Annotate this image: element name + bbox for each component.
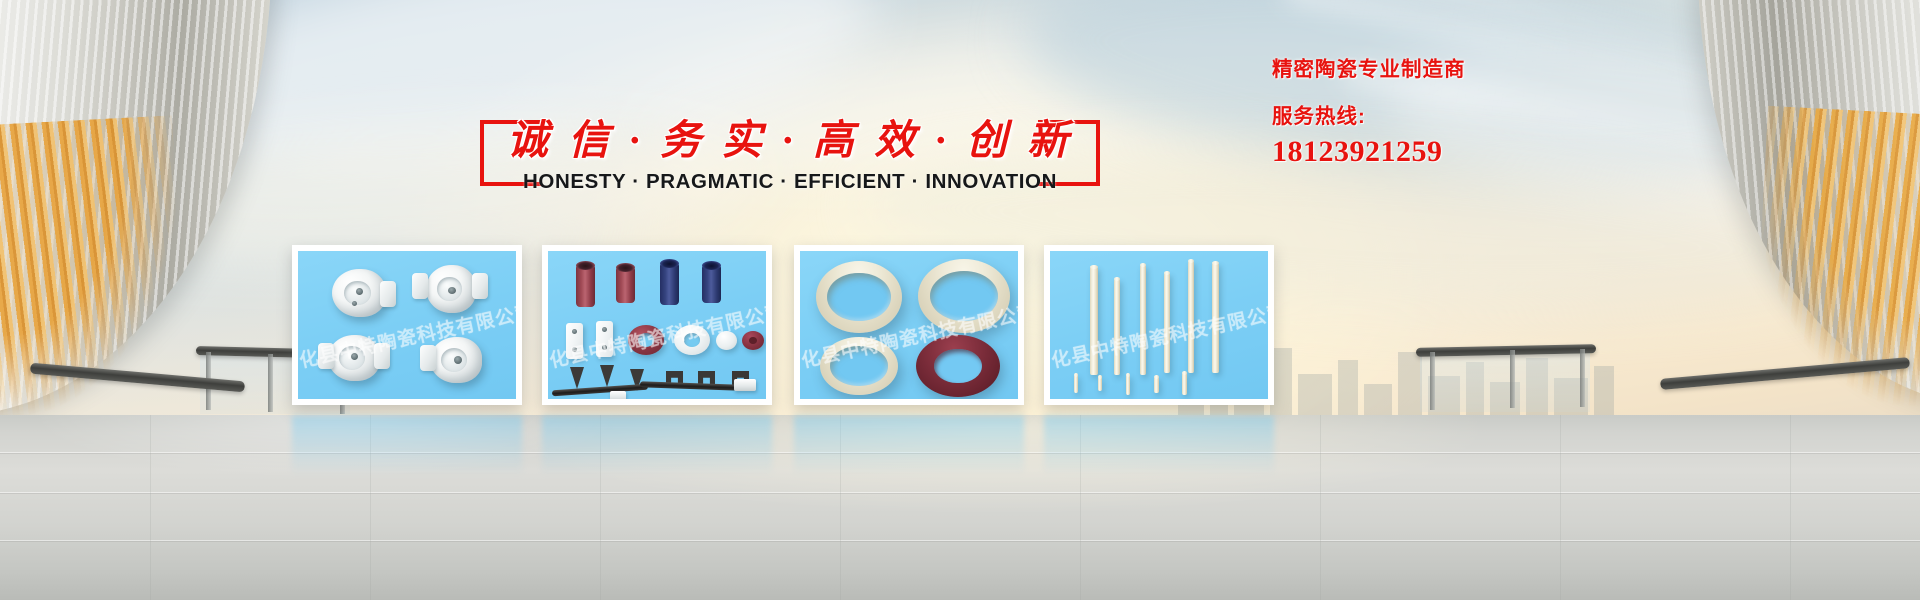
power-cable: [640, 381, 740, 390]
panel-image: 新化县中特陶瓷科技有限公司: [1050, 251, 1268, 399]
product-panel-ceramic-rods[interactable]: 新化县中特陶瓷科技有限公司: [1044, 245, 1274, 405]
ceramic-rod: [1114, 279, 1120, 375]
ceramic-rod: [1140, 265, 1146, 375]
ceramic-socket: [328, 335, 380, 381]
building: [1594, 366, 1614, 418]
socket-bracket: [420, 345, 436, 371]
ceramic-ring-large: [820, 337, 898, 395]
floor-tile-line: [0, 540, 1920, 541]
company-tagline: 精密陶瓷专业制造商: [1272, 52, 1602, 82]
ceramic-socket: [430, 337, 482, 383]
ceramic-plate: [566, 323, 583, 359]
ceramic-tube-navy: [702, 265, 721, 303]
slogan-chinese: 诚 信 · 务 实 · 高 效 · 创 新: [480, 106, 1100, 166]
ceramic-rod-small: [1126, 375, 1130, 395]
panel-reflection: [794, 416, 1024, 476]
ceramic-plate: [596, 321, 613, 357]
ceramic-tube-navy: [660, 263, 679, 305]
socket-bracket: [380, 281, 396, 307]
ceramic-disc-maroon: [742, 331, 764, 350]
ceramic-socket: [332, 269, 386, 317]
cable-boot: [600, 365, 614, 387]
ceramic-rod-small: [1074, 375, 1078, 393]
panel-image: 新化县中特陶瓷科技有限公司: [298, 251, 516, 399]
rail-post: [1580, 349, 1585, 407]
hero-banner: 诚 信 · 务 实 · 高 效 · 创 新 HONESTY · PRAGMATI…: [0, 0, 1920, 600]
panel-watermark: 新化县中特陶瓷科技有限公司: [1050, 297, 1268, 377]
cable-connector: [610, 391, 626, 399]
socket-hole: [356, 288, 363, 295]
floor-tile-line: [0, 492, 1920, 493]
floor-tile-line: [1790, 415, 1791, 600]
socket-bracket: [472, 273, 488, 299]
panel-image: 新化县中特陶瓷科技有限公司: [548, 251, 766, 399]
floor-tile-line: [1320, 415, 1321, 600]
panel-reflection: [542, 416, 772, 476]
floor-tile-line: [150, 415, 151, 600]
ceramic-ring-white: [674, 325, 710, 355]
product-panel-ceramic-sockets[interactable]: 新化县中特陶瓷科技有限公司: [292, 245, 522, 405]
cable-connector: [734, 379, 756, 391]
product-panel-row: 新化县中特陶瓷科技有限公司: [292, 245, 1522, 405]
ceramic-tube-maroon: [616, 267, 635, 303]
socket-hole: [454, 356, 462, 364]
ceramic-rod: [1212, 263, 1219, 373]
slogan-block: 诚 信 · 务 实 · 高 效 · 创 新 HONESTY · PRAGMATI…: [480, 108, 1100, 206]
ceramic-socket: [426, 265, 476, 313]
ceramic-rod-small: [1154, 377, 1159, 393]
panel-image: 新化县中特陶瓷科技有限公司: [800, 251, 1018, 399]
plate-hole: [602, 345, 607, 350]
panel-reflection: [1044, 416, 1274, 476]
ceramic-ring-large: [918, 259, 1010, 333]
socket-bracket: [374, 343, 390, 369]
socket-hole: [448, 287, 456, 294]
product-panel-ceramic-rings[interactable]: 新化县中特陶瓷科技有限公司: [794, 245, 1024, 405]
plate-hole: [572, 329, 577, 334]
panel-reflection: [292, 416, 522, 476]
socket-bracket: [318, 343, 334, 369]
ceramic-rod-small: [1182, 373, 1187, 395]
ceramic-rod: [1188, 261, 1194, 373]
plate-hole: [572, 347, 577, 352]
socket-hole: [351, 353, 358, 360]
plate-hole: [602, 327, 607, 332]
ceramic-rod-small: [1098, 377, 1102, 391]
ceramic-tube-maroon: [576, 265, 595, 307]
rail-post: [268, 354, 273, 412]
ceramic-rod: [1090, 267, 1098, 375]
ceramic-ring-darkred: [916, 335, 1000, 397]
ceramic-ring-maroon: [628, 325, 664, 355]
product-panel-ceramic-tubes[interactable]: 新化县中特陶瓷科技有限公司: [542, 245, 772, 405]
floor-tile-line: [1560, 415, 1561, 600]
ceramic-ring-large: [816, 261, 902, 333]
cable-boot: [570, 367, 584, 389]
hotline-number[interactable]: 18123921259: [1272, 135, 1602, 169]
slogan-english: HONESTY · PRAGMATIC · EFFICIENT · INNOVA…: [480, 170, 1100, 194]
socket-hole: [352, 301, 357, 306]
contact-block: 精密陶瓷专业制造商 服务热线: 18123921259: [1272, 52, 1602, 169]
socket-bracket: [412, 273, 428, 299]
hotline-label: 服务热线:: [1272, 99, 1602, 129]
ceramic-disc-white: [716, 331, 737, 350]
ceramic-rod: [1164, 273, 1170, 373]
